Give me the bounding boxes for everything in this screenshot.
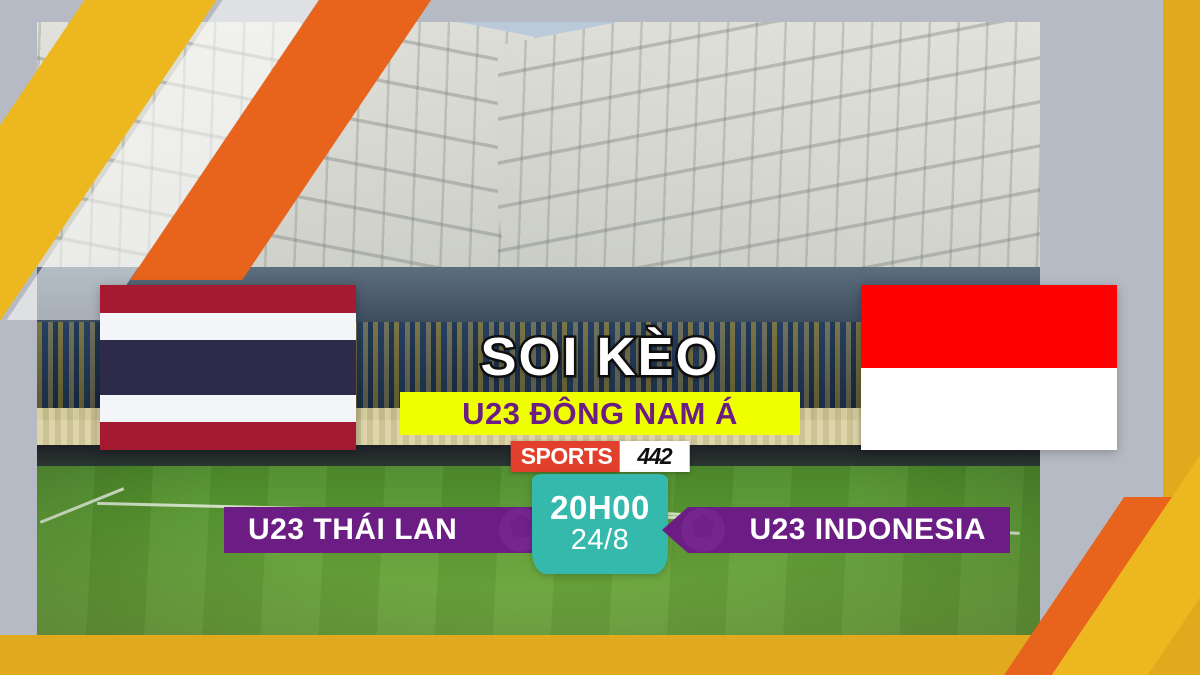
flag-band-red-top bbox=[100, 285, 356, 313]
kickoff-block: 20H00 24/8 bbox=[532, 474, 668, 574]
subtitle-banner: U23 ĐÔNG NAM Á bbox=[400, 392, 800, 435]
page-title: SOI KÈO bbox=[0, 330, 1200, 384]
subtitle-text: U23 ĐÔNG NAM Á bbox=[462, 398, 738, 429]
sports442-logo: SPORTS 442 bbox=[511, 441, 690, 472]
home-team-name: U23 THÁI LAN bbox=[248, 515, 457, 545]
logo-wordmark: SPORTS bbox=[511, 441, 620, 472]
away-team-name: U23 INDONESIA bbox=[749, 515, 986, 545]
away-team-banner: U23 INDONESIA bbox=[662, 507, 1010, 553]
logo-mark-442: 442 bbox=[619, 441, 689, 472]
kickoff-date: 24/8 bbox=[571, 525, 629, 557]
soccer-ball-icon bbox=[680, 507, 726, 553]
kickoff-time: 20H00 bbox=[550, 491, 650, 526]
match-bar: U23 THÁI LAN 20H00 24/8 U23 INDONESIA bbox=[0, 500, 1200, 560]
match-preview-poster: SOI KÈO U23 ĐÔNG NAM Á SPORTS 442 U23 TH… bbox=[0, 0, 1200, 675]
home-team-banner: U23 THÁI LAN bbox=[224, 507, 562, 553]
headline-block: SOI KÈO U23 ĐÔNG NAM Á bbox=[0, 330, 1200, 435]
